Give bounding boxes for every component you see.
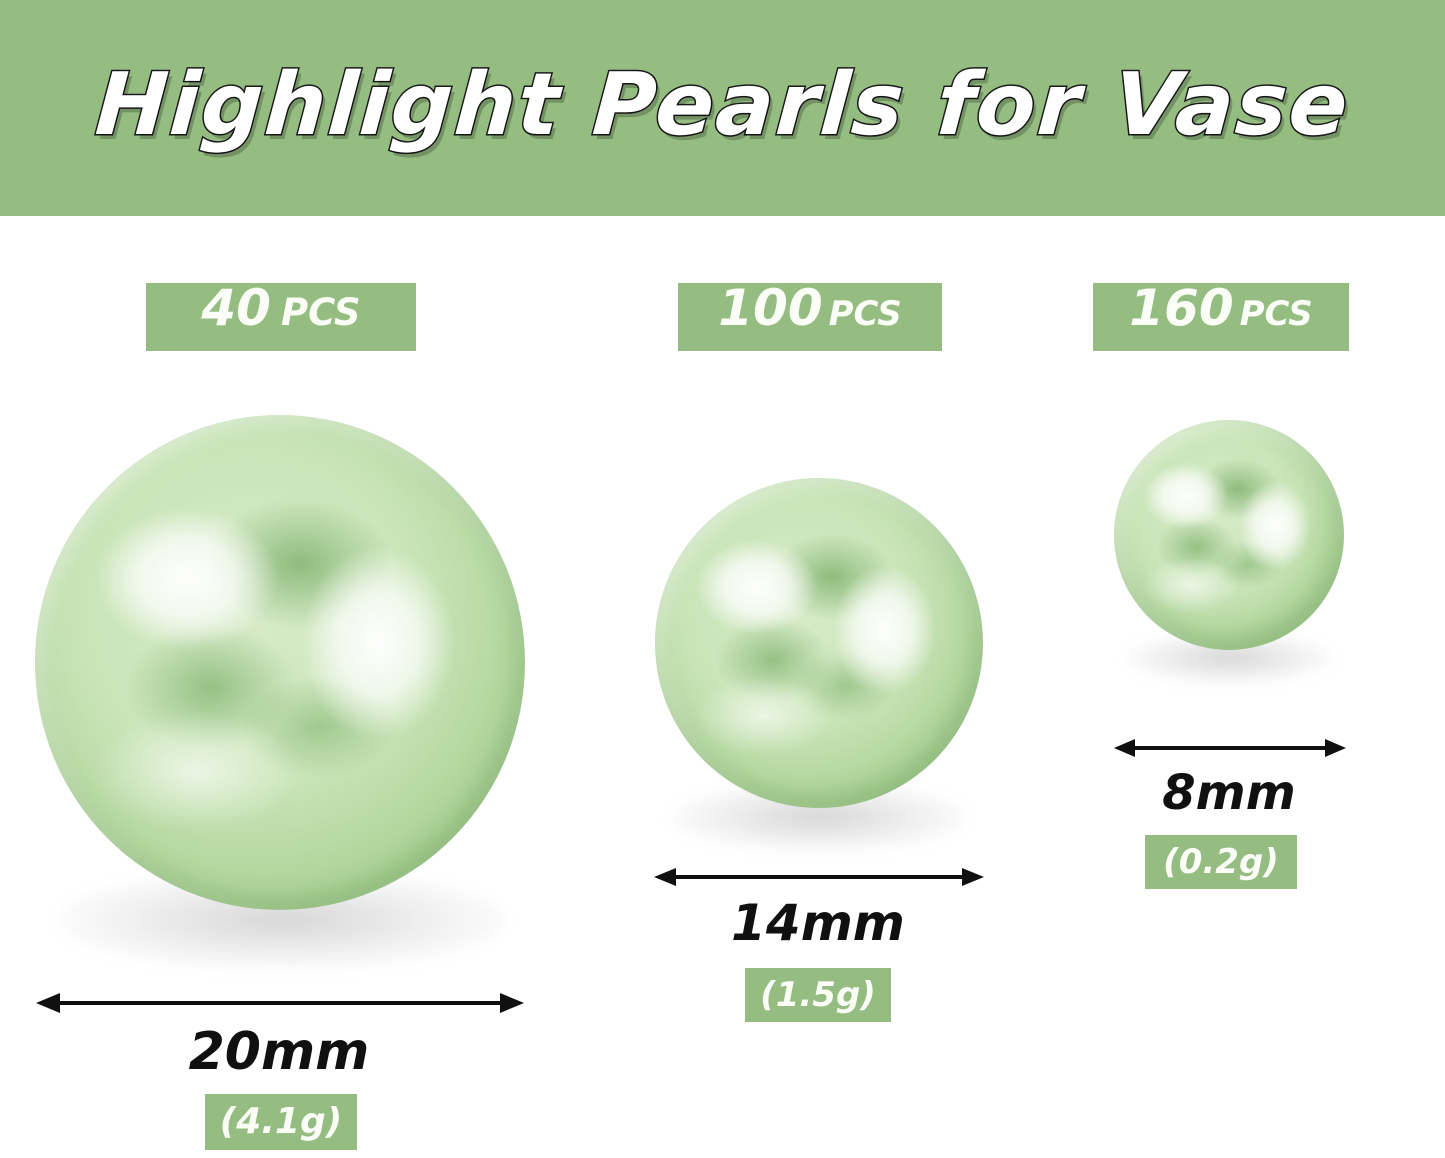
page-title: Highlight Pearls for Vase	[92, 55, 1352, 155]
pcs-count-value: 160	[1129, 283, 1233, 333]
pcs-count-unit: PCS	[281, 294, 361, 331]
pcs-count-value: 100	[718, 283, 822, 333]
weight-value: (0.2g)	[1163, 845, 1279, 879]
pcs-badge-40: 40 PCS	[146, 283, 416, 351]
double-headed-arrow-icon	[1112, 735, 1348, 761]
pcs-count-value: 40	[201, 283, 271, 333]
pearl-large-group	[35, 415, 525, 975]
pcs-badge-160: 160 PCS	[1093, 283, 1349, 351]
weight-badge-small: (0.2g)	[1145, 835, 1297, 889]
diameter-label-8mm: 8mm	[1112, 769, 1346, 817]
diameter-label-14mm: 14mm	[652, 898, 984, 948]
double-headed-arrow-icon	[34, 990, 526, 1016]
pcs-badge-100: 100 PCS	[678, 283, 942, 351]
pearl-medium	[655, 478, 983, 808]
pearl-small-group	[1114, 420, 1344, 692]
diameter-label-20mm: 20mm	[34, 1026, 524, 1078]
weight-value: (1.5g)	[760, 978, 876, 1012]
pcs-count-unit: PCS	[1240, 297, 1313, 331]
pearl-small	[1114, 420, 1344, 650]
header-banner: Highlight Pearls for Vase	[0, 0, 1445, 216]
pcs-count-unit: PCS	[829, 297, 902, 331]
weight-badge-large: (4.1g)	[205, 1094, 357, 1150]
pearl-medium-group	[655, 478, 983, 858]
weight-badge-medium: (1.5g)	[745, 968, 891, 1022]
pearl-large	[35, 415, 525, 910]
double-headed-arrow-icon	[652, 864, 986, 890]
weight-value: (4.1g)	[220, 1104, 342, 1140]
